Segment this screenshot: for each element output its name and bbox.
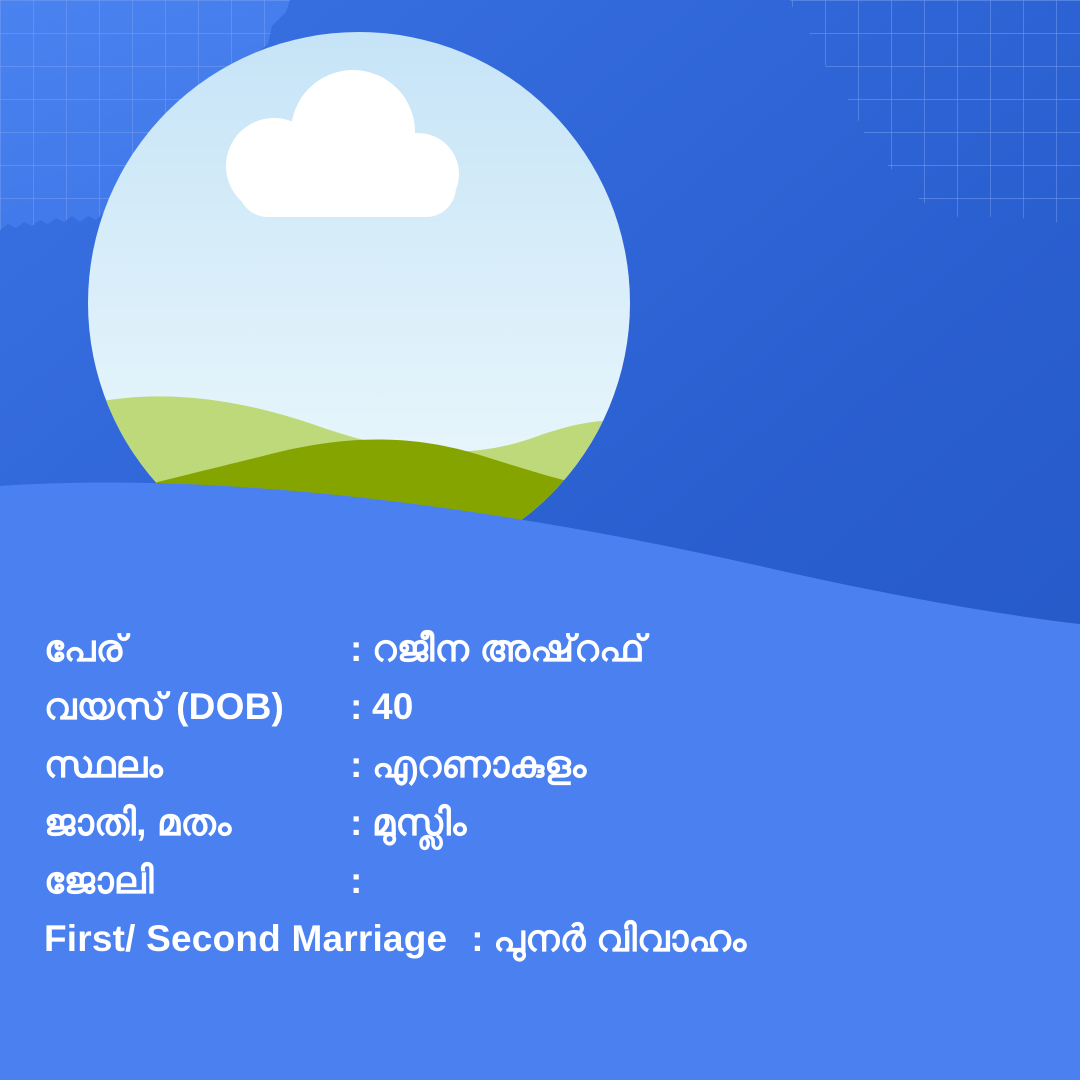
- detail-row-name: പേര് : റജീന അഷ്‌റഫ്: [44, 628, 1044, 686]
- value-caste-religion: മുസ്ലിം: [372, 802, 467, 845]
- separator-place: :: [350, 744, 372, 786]
- separator-marriage-status: :: [471, 918, 493, 960]
- separator-caste-religion: :: [350, 802, 372, 844]
- detail-row-caste-religion: ജാതി, മതം : മുസ്ലിം: [44, 802, 1044, 860]
- details-list: പേര് : റജീന അഷ്‌റഫ് വയസ് (DOB) : 40 സ്ഥല…: [44, 628, 1044, 976]
- detail-row-age-dob: വയസ് (DOB) : 40: [44, 686, 1044, 744]
- label-place: സ്ഥലം: [44, 744, 350, 787]
- detail-row-marriage-status: First/ Second Marriage : പുനർ വിവാഹം: [44, 918, 1044, 976]
- separator-name: :: [350, 628, 372, 670]
- label-marriage-status: First/ Second Marriage: [44, 918, 447, 960]
- label-name: പേര്: [44, 628, 350, 671]
- detail-row-job: ജോലി :: [44, 860, 1044, 918]
- value-name: റജീന അഷ്‌റഫ്: [372, 628, 645, 671]
- placeholder-landscape-icon: [88, 32, 630, 574]
- profile-card: പേര് : റജീന അഷ്‌റഫ് വയസ് (DOB) : 40 സ്ഥല…: [0, 0, 1080, 1080]
- label-caste-religion: ജാതി, മതം: [44, 802, 350, 845]
- separator-age-dob: :: [350, 686, 372, 728]
- label-age-dob: വയസ് (DOB): [44, 686, 350, 729]
- avatar: [88, 32, 630, 574]
- label-job: ജോലി: [44, 860, 350, 903]
- value-marriage-status: പുനർ വിവാഹം: [493, 918, 746, 961]
- value-place: എറണാകുളം: [372, 744, 586, 787]
- detail-row-place: സ്ഥലം : എറണാകുളം: [44, 744, 1044, 802]
- value-age-dob: 40: [372, 686, 414, 728]
- separator-job: :: [350, 860, 372, 902]
